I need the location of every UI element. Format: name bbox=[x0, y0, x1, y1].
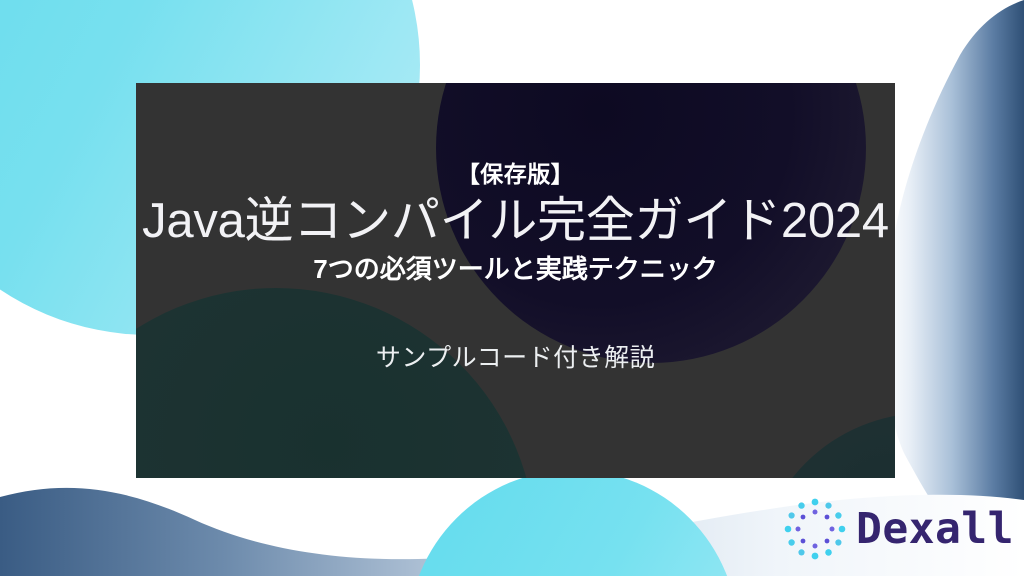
dotted-circle-mark-icon bbox=[782, 496, 848, 562]
brand-logo: Dexall bbox=[782, 496, 1014, 562]
panel-text-stack: 【保存版】 Java逆コンパイル完全ガイド2024 7つの必須ツールと実践テクニ… bbox=[136, 83, 895, 478]
wave-right-decor bbox=[886, 0, 1024, 576]
slide-canvas: 【保存版】 Java逆コンパイル完全ガイド2024 7つの必須ツールと実践テクニ… bbox=[0, 0, 1024, 576]
cyan-circle-bottom-decor bbox=[408, 470, 738, 576]
page-title: Java逆コンパイル完全ガイド2024 bbox=[142, 193, 889, 250]
page-subtitle: 7つの必須ツールと実践テクニック bbox=[313, 253, 717, 286]
logo-wordmark: Dexall bbox=[856, 508, 1014, 551]
badge-label: 【保存版】 bbox=[457, 161, 574, 189]
content-panel: 【保存版】 Java逆コンパイル完全ガイド2024 7つの必須ツールと実践テクニ… bbox=[136, 83, 895, 478]
page-tagline: サンプルコード付き解説 bbox=[376, 342, 655, 375]
